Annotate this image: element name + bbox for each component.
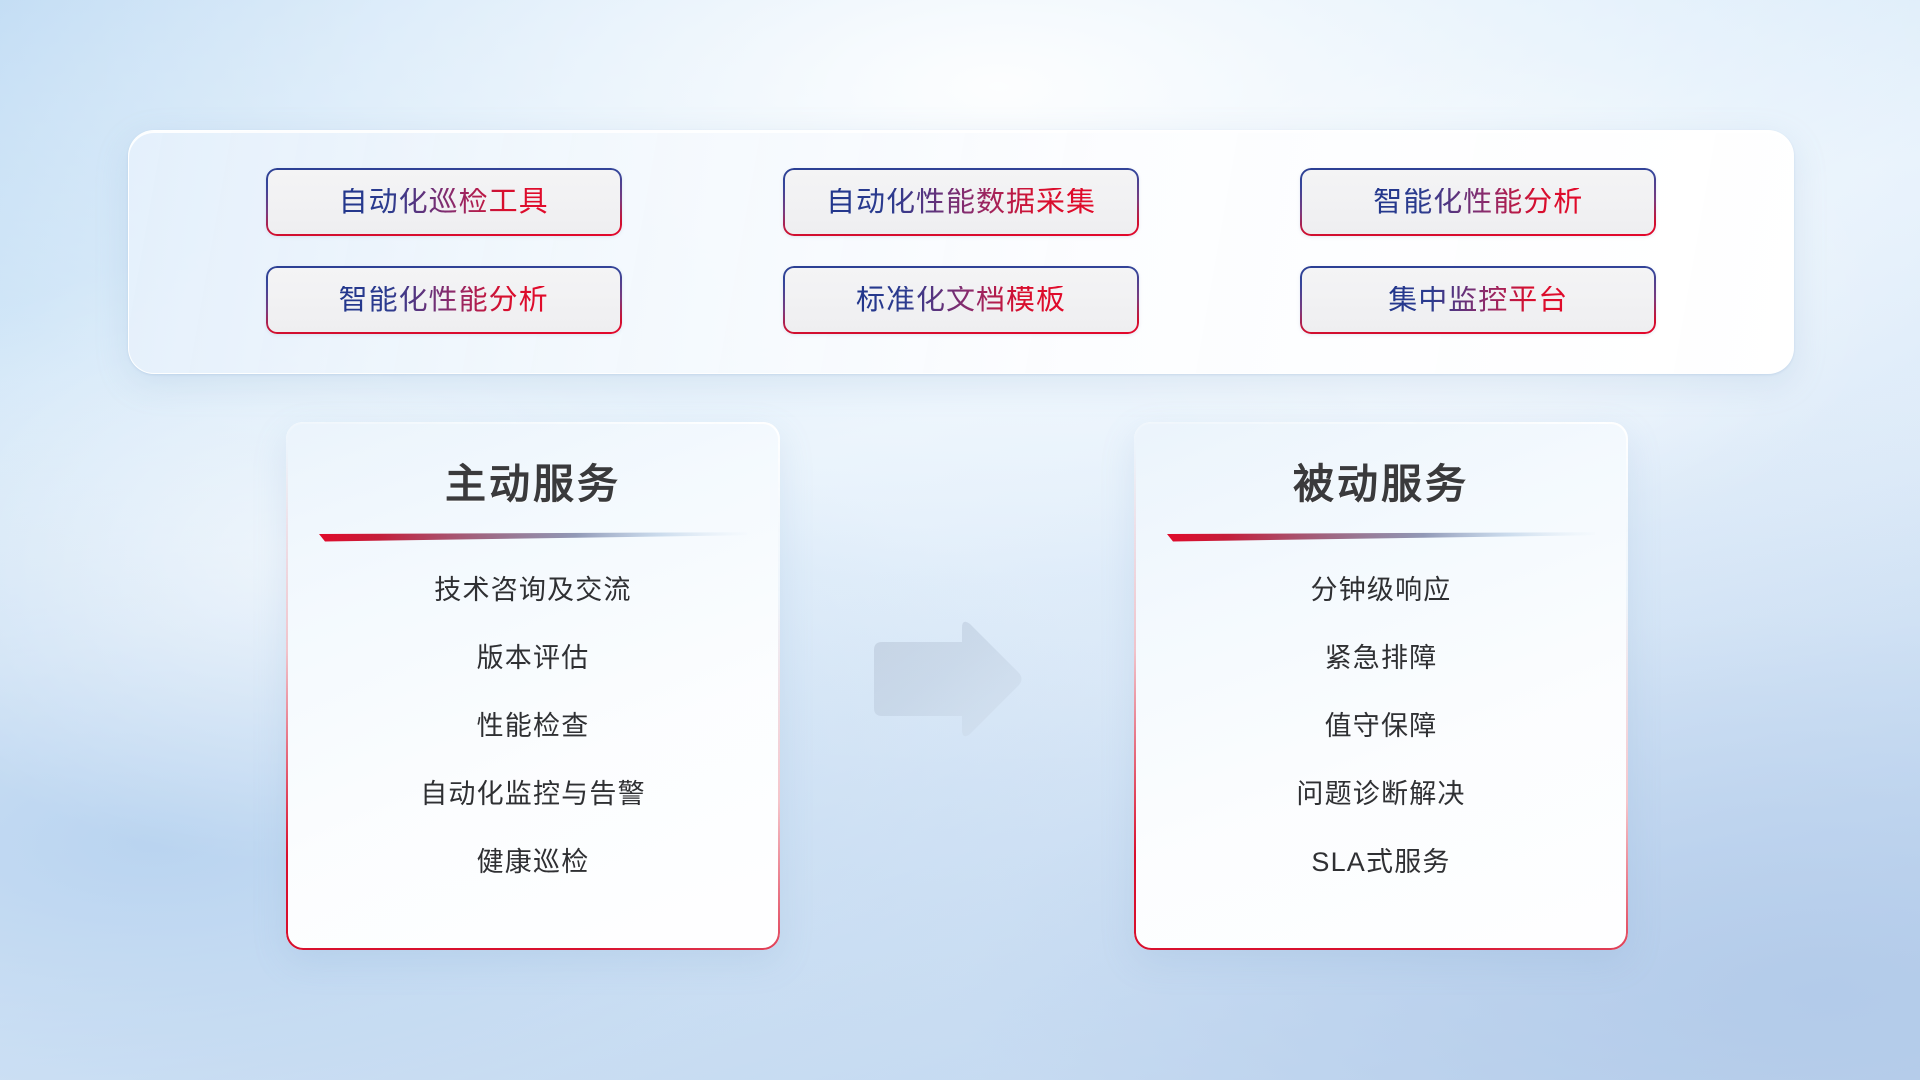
service-list-item: 技术咨询及交流 bbox=[312, 577, 754, 604]
service-list-item: 健康巡检 bbox=[312, 849, 754, 876]
service-list-item: 紧急排障 bbox=[1160, 645, 1602, 672]
service-list-item: 问题诊断解决 bbox=[1160, 781, 1602, 808]
slide-canvas: 自动化巡检工具 自动化性能数据采集 智能化性能分析 智能化性能分析 标准化文档模… bbox=[0, 0, 1920, 1080]
service-list-item: 值守保障 bbox=[1160, 713, 1602, 740]
capability-chip-label: 智能化性能分析 bbox=[339, 286, 549, 315]
capability-panel: 自动化巡检工具 自动化性能数据采集 智能化性能分析 智能化性能分析 标准化文档模… bbox=[128, 130, 1794, 374]
capability-chip-label: 智能化性能分析 bbox=[1373, 188, 1583, 217]
capability-chip-1[interactable]: 自动化巡检工具 bbox=[266, 168, 622, 236]
service-card-title: 被动服务 bbox=[1160, 462, 1602, 507]
service-list-item: SLA式服务 bbox=[1160, 849, 1602, 876]
service-item-list: 分钟级响应 紧急排障 值守保障 问题诊断解决 SLA式服务 bbox=[1160, 543, 1602, 876]
title-divider bbox=[319, 531, 747, 543]
service-card-reactive: 被动服务 分钟级响应 紧急排障 值守保障 问题诊断解决 SLA式服务 bbox=[1134, 422, 1628, 950]
service-list-item: 版本评估 bbox=[312, 645, 754, 672]
capability-chip-label: 自动化性能数据采集 bbox=[826, 188, 1096, 217]
capability-chip-3[interactable]: 智能化性能分析 bbox=[1300, 168, 1656, 236]
right-arrow-icon bbox=[866, 616, 1026, 744]
capability-chip-2[interactable]: 自动化性能数据采集 bbox=[783, 168, 1139, 236]
capability-chip-6[interactable]: 集中监控平台 bbox=[1300, 266, 1656, 334]
service-list-item: 分钟级响应 bbox=[1160, 577, 1602, 604]
capability-chip-label: 自动化巡检工具 bbox=[339, 188, 549, 217]
capability-chip-label: 集中监控平台 bbox=[1388, 286, 1568, 315]
service-list-item: 性能检查 bbox=[312, 713, 754, 740]
service-card-title: 主动服务 bbox=[312, 462, 754, 507]
service-item-list: 技术咨询及交流 版本评估 性能检查 自动化监控与告警 健康巡检 bbox=[312, 543, 754, 876]
title-divider bbox=[1167, 531, 1595, 543]
capability-chip-4[interactable]: 智能化性能分析 bbox=[266, 266, 622, 334]
service-list-item: 自动化监控与告警 bbox=[312, 781, 754, 808]
service-card-proactive: 主动服务 技术咨询及交流 版本评估 性能检查 自动化监控与告警 健康巡检 bbox=[286, 422, 780, 950]
capability-chip-5[interactable]: 标准化文档模板 bbox=[783, 266, 1139, 334]
capability-chip-label: 标准化文档模板 bbox=[856, 286, 1066, 315]
